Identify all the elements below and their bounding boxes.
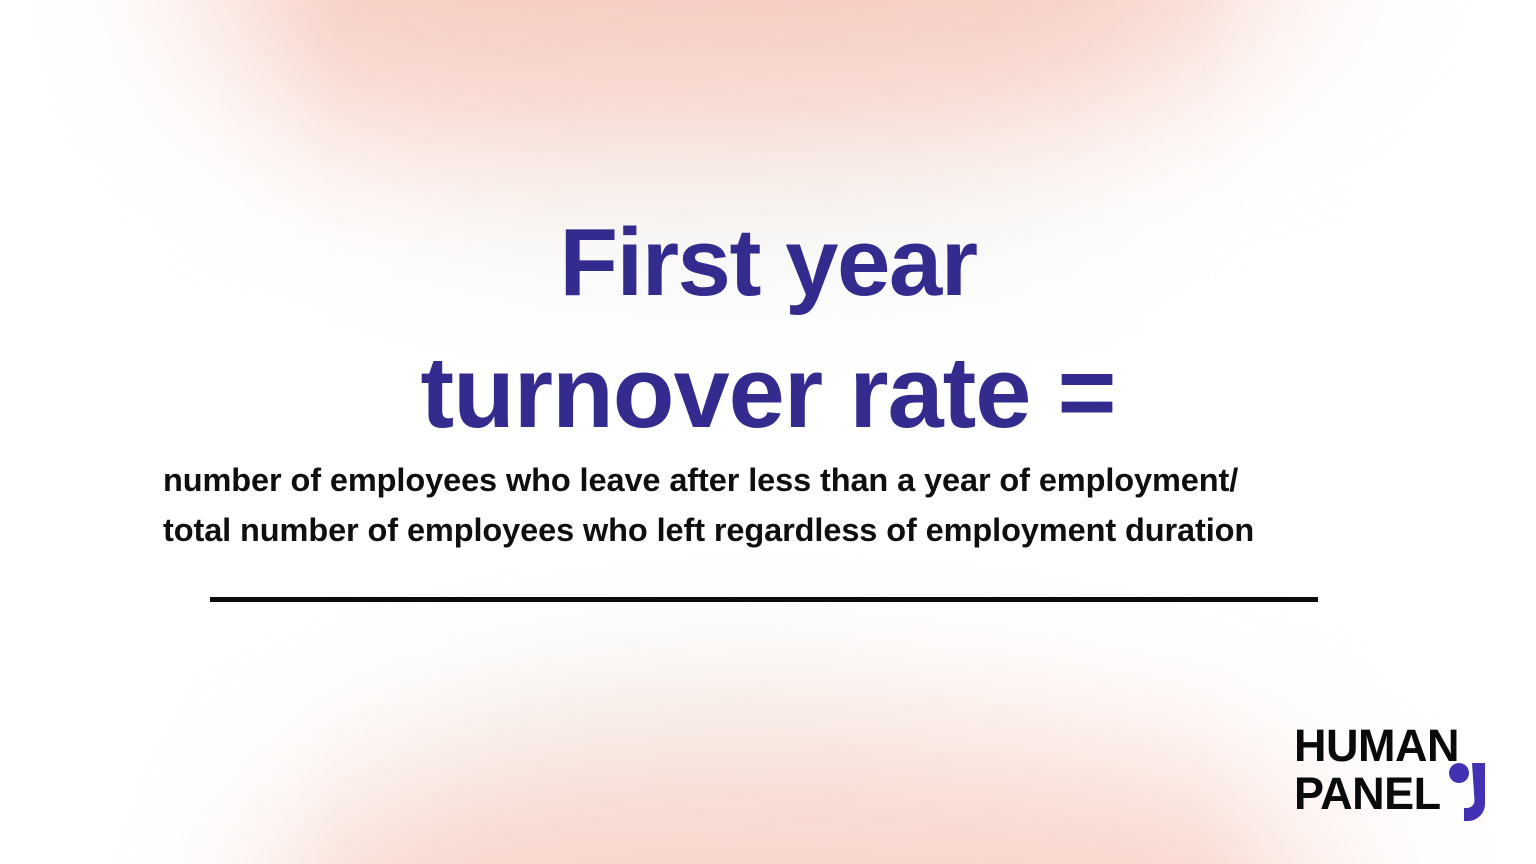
formula-numerator: number of employees who leave after less… (163, 455, 1378, 505)
semicolon-mark-icon (1444, 763, 1492, 825)
formula-block: number of employees who leave after less… (163, 455, 1378, 555)
logo-wordmark: HUMAN PANEL (1294, 723, 1459, 816)
page-title: First year turnover rate = (0, 198, 1536, 458)
slide-content: First year turnover rate = number of emp… (0, 0, 1536, 864)
headline-line-2: turnover rate = (0, 328, 1536, 458)
brand-logo: HUMAN PANEL (1294, 723, 1494, 823)
logo-line-human: HUMAN (1294, 723, 1459, 768)
logo-line-panel: PANEL (1294, 771, 1459, 816)
formula-denominator: total number of employees who left regar… (163, 505, 1378, 555)
fraction-divider-rule (210, 597, 1318, 602)
slide-canvas: First year turnover rate = number of emp… (0, 0, 1536, 864)
headline-line-1: First year (0, 198, 1536, 328)
